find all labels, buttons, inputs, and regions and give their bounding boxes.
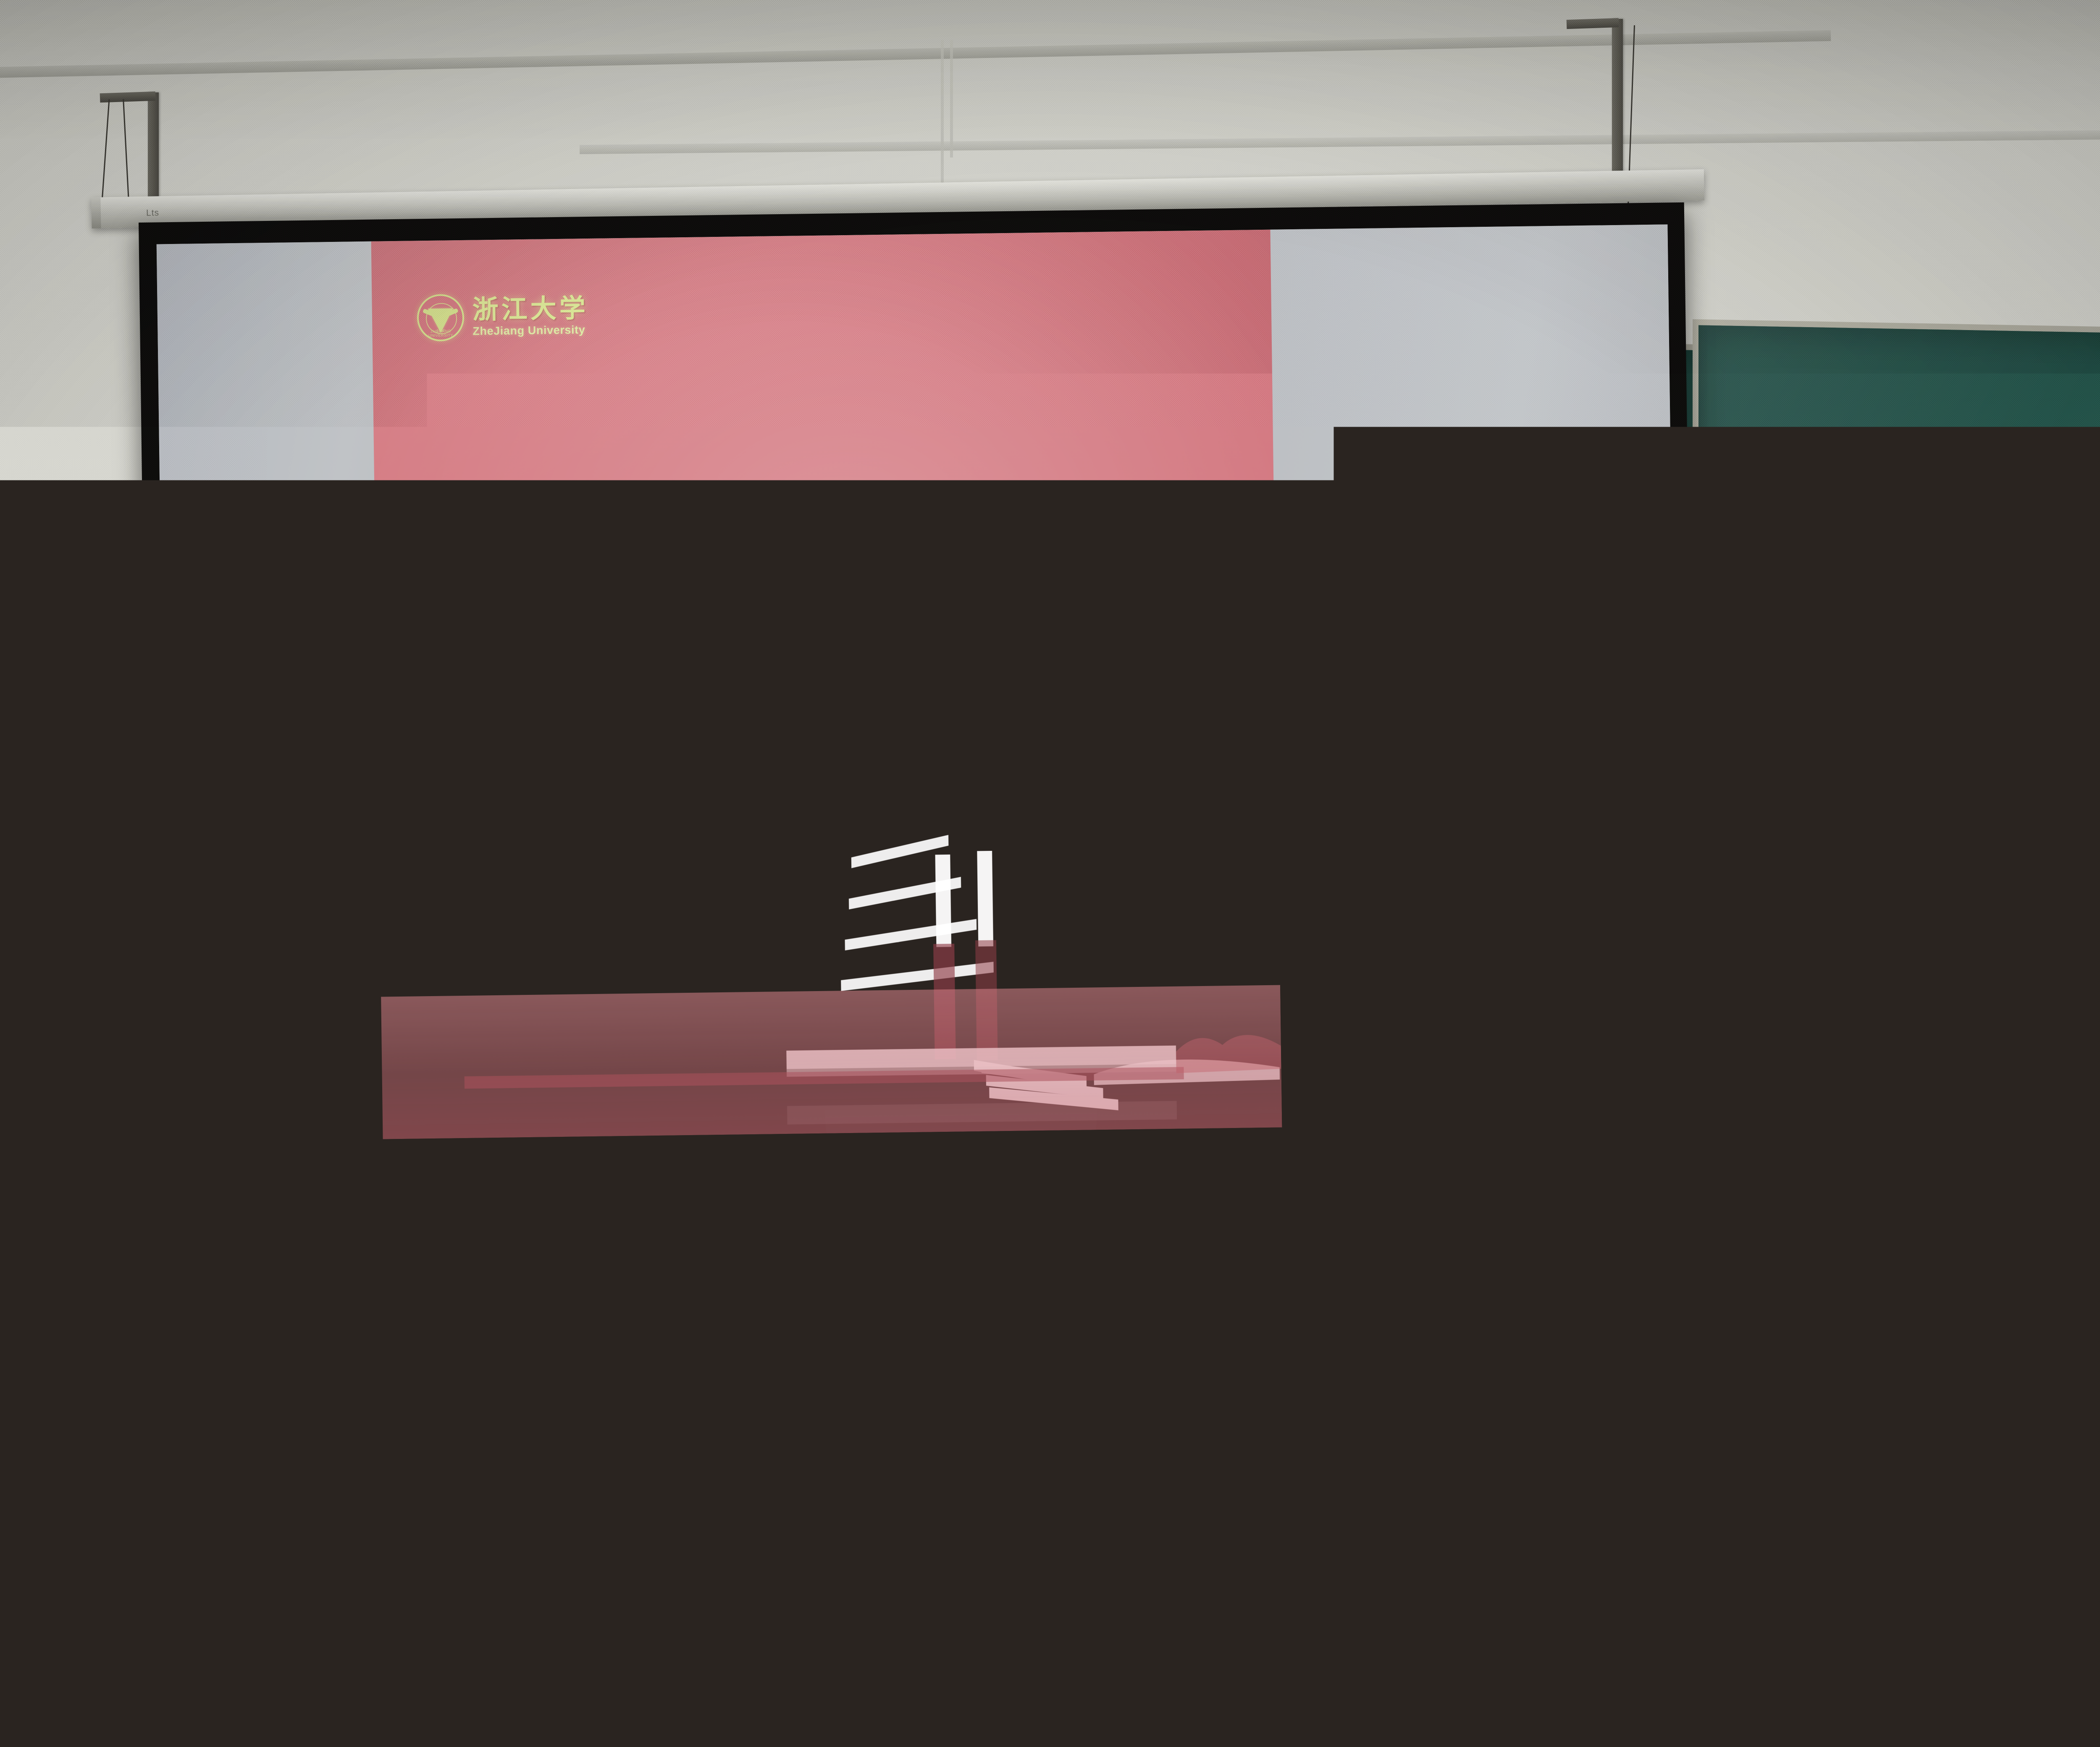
presentation-slide: 1897 ZHEJIANG UNIVERSITY 浙江大学 ZheJiang U… xyxy=(371,230,1282,1139)
socket-pin xyxy=(434,1271,436,1274)
podium-speaker-grille xyxy=(1870,1674,1906,1737)
microphone-head-icon xyxy=(1914,1122,1932,1141)
projection-screen[interactable]: 1897 ZHEJIANG UNIVERSITY 浙江大学 ZheJiang U… xyxy=(139,202,1696,1167)
screen-pillarbox-right xyxy=(1270,224,1679,1127)
stool-leg xyxy=(82,1666,94,1747)
logo-name-cn: 浙江大学 xyxy=(472,295,588,323)
socket-pin xyxy=(430,1276,433,1280)
presenter-eyebrow xyxy=(1931,1098,1945,1100)
university-logo: 1897 ZHEJIANG UNIVERSITY 浙江大学 ZheJiang U… xyxy=(417,292,588,341)
screen-bracket-arm xyxy=(1567,18,1619,29)
stool-leg xyxy=(4,1664,17,1747)
housing-end-cap xyxy=(91,197,101,228)
logo-wordmark: 浙江大学 ZheJiang University xyxy=(472,295,588,338)
campus-skyline-artwork xyxy=(378,804,1282,1139)
left-wall-corner xyxy=(414,1230,425,1747)
housing-brand-label: Lts xyxy=(146,208,159,218)
slide-subtitle: 侯佳萱 工作总结 xyxy=(377,665,1277,756)
zju-seal-icon: 1897 ZHEJIANG UNIVERSITY xyxy=(417,294,464,341)
wall-seam xyxy=(950,40,953,157)
slide-title: 电气工程学院第十九届研究生会主席 xyxy=(375,539,1275,616)
panel-screw xyxy=(1916,1443,1924,1451)
presenter-eye xyxy=(1899,1105,1910,1109)
screen-bracket-right xyxy=(1612,19,1623,178)
power-socket[interactable] xyxy=(420,1256,450,1285)
socket-pin xyxy=(438,1276,441,1280)
screen-pillarbox-left xyxy=(157,241,383,1142)
screen-surface: 1897 ZHEJIANG UNIVERSITY 浙江大学 ZheJiang U… xyxy=(157,224,1680,1142)
presenter-eye xyxy=(1932,1105,1943,1109)
socket-pin xyxy=(429,1263,433,1267)
microphone-status-led xyxy=(1917,1139,1928,1144)
classroom-scene: Lts 1897 ZHEJIANG UNIVERSITY 浙江大学 xyxy=(0,0,2100,1747)
podium[interactable] xyxy=(1790,1325,2100,1747)
blackboard-divider xyxy=(1698,755,2100,777)
podium-top-surface xyxy=(1787,1313,2100,1331)
presenter-eyebrow xyxy=(1898,1098,1912,1100)
panel-vent xyxy=(1979,1599,2100,1603)
seal-arc-text: ZHEJIANG UNIVERSITY xyxy=(419,329,462,338)
socket-pin xyxy=(438,1263,441,1267)
left-wall-lower xyxy=(0,1230,424,1747)
water-reflection xyxy=(381,985,1282,1139)
logo-name-en: ZheJiang University xyxy=(472,323,588,338)
